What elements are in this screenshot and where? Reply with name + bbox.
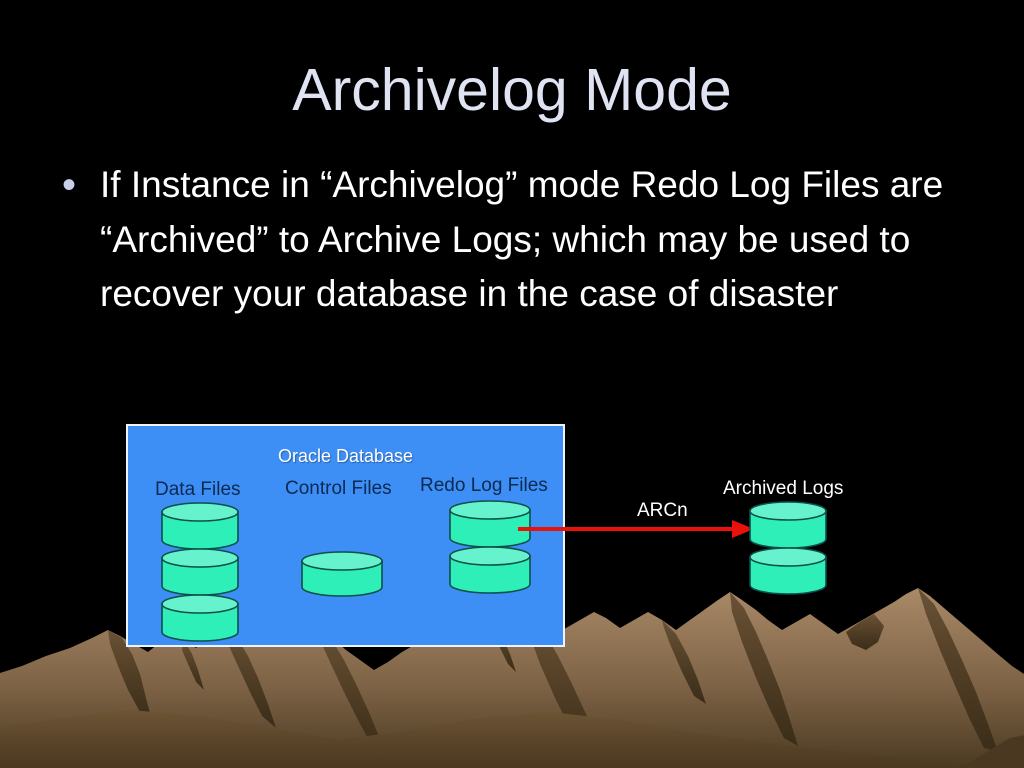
label-arcn-process: ARCn [637, 500, 688, 522]
label-control-files: Control Files [285, 478, 392, 500]
cylinder-data-file-2 [160, 548, 240, 596]
oracle-database-panel-title: Oracle Database [128, 446, 563, 467]
slide-canvas: Archivelog Mode • If Instance in “Archiv… [0, 0, 1024, 768]
cylinder-archived-log-2 [748, 547, 828, 595]
label-archived-logs: Archived Logs [723, 478, 843, 500]
architecture-diagram: Oracle Database Data Files Control Files… [0, 0, 1024, 768]
label-redo-log-files: Redo Log Files [420, 475, 548, 497]
cylinder-control-file-1 [300, 551, 384, 597]
cylinder-archived-log-1 [748, 501, 828, 549]
label-data-files: Data Files [155, 479, 241, 501]
cylinder-redo-log-2 [448, 546, 532, 594]
cylinder-data-file-3 [160, 594, 240, 642]
cylinder-data-file-1 [160, 502, 240, 550]
